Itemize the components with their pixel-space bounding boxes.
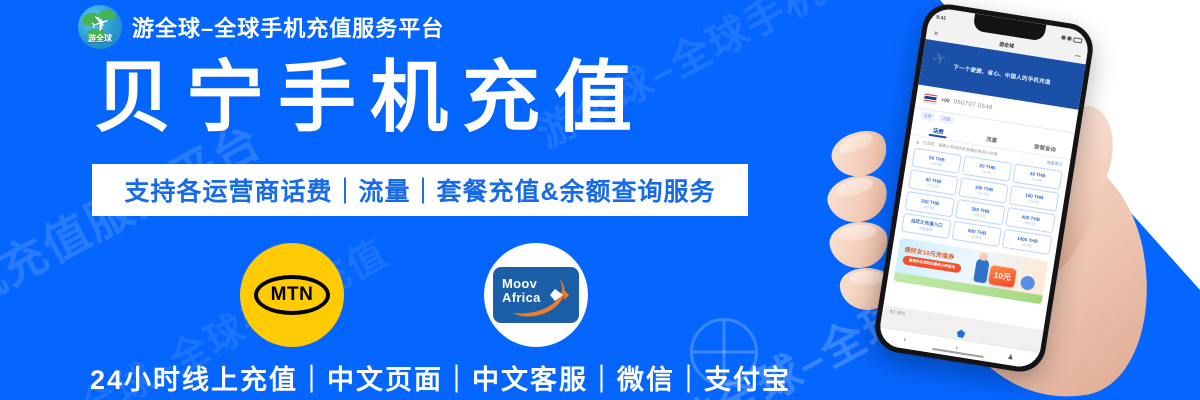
promo-person-illustration	[973, 258, 990, 284]
phone-mockup: 9:41 ✕ 游全球 ⋯ ✈ 下一个便捷、省心、中国人的手机充值	[806, 0, 1200, 400]
promo-banner: 机充值服务平台 游全球–全球手机 游全球–全球手机充值服务平台 机充值服务平台 …	[0, 0, 1200, 400]
denomination-sub: 任意金额	[919, 225, 933, 232]
profile-icon[interactable]: ♟	[1007, 352, 1014, 361]
promo-grass	[893, 272, 1043, 304]
mtn-oval-shape: MTN	[254, 275, 330, 315]
denomination-sub: ≈42.0元	[923, 203, 935, 210]
operator-logos: MTN Moov Africa	[240, 243, 588, 347]
denomination-sub: ≈10.5元	[930, 160, 942, 167]
denomination-sub: ≈12.6元	[927, 182, 939, 189]
status-icons	[1061, 35, 1083, 43]
denomination-sub: ≈4.3元	[981, 168, 992, 174]
app-note-link[interactable]: 查看更多	[1046, 160, 1063, 168]
denomination-sub: ≈6.4元	[1032, 176, 1043, 182]
denomination-sub: ≈210元	[1021, 241, 1033, 248]
brand-row: ✈ 游全球 游全球–全球手机充值服务平台	[78, 5, 444, 49]
operator-logo-mtn: MTN	[240, 243, 344, 347]
country-code: +00	[941, 97, 950, 104]
chip[interactable]: 流量	[939, 114, 954, 124]
more-icon[interactable]: ⋯	[1074, 53, 1081, 61]
status-time: 9:41	[936, 14, 947, 21]
close-icon[interactable]: ✕	[933, 30, 939, 38]
denomination-sub: ≈21.0元	[977, 190, 989, 197]
subtitle-text: 支持各运营商话费｜流量｜套餐充值&余额查询服务	[124, 172, 715, 208]
moov-label: Moov Africa	[502, 277, 541, 304]
app-nav-title: 游全球	[999, 41, 1015, 50]
brand-name: 游全球–全球手机充值服务平台	[132, 11, 444, 43]
denomination-sub: ≈84.0元	[1024, 219, 1036, 226]
battery-icon	[1073, 37, 1083, 43]
app-footer-text: 客户服务	[889, 309, 906, 317]
denomination-card[interactable]: 自定义充值入口 任意金额	[901, 213, 951, 239]
wifi-icon	[1067, 36, 1072, 41]
finger	[827, 218, 891, 272]
operator-logo-moov: Moov Africa	[484, 243, 588, 347]
page-title: 贝宁手机充值	[94, 58, 646, 136]
thailand-flag-icon	[923, 92, 938, 104]
brand-logo-caption: 游全球	[78, 33, 122, 44]
globe-plane-icon: ✈ 游全球	[78, 5, 122, 49]
feature-list: 24小时线上充值｜中文页面｜中文客服｜微信｜支付宝	[90, 358, 791, 397]
denomination-card[interactable]: 500 THB ≈105元	[952, 221, 1002, 247]
promo-coin: 10元	[988, 265, 1017, 288]
moov-card-shape: Moov Africa	[493, 267, 579, 323]
app-hero-text: 下一个便捷、省心、中国人的手机充值	[953, 63, 1052, 86]
subtitle-bar: 支持各运营商话费｜流量｜套餐充值&余额查询服务	[92, 164, 748, 216]
denomination-sub: ≈105元	[971, 233, 983, 240]
finger	[823, 169, 893, 230]
airplane-icon: ✈	[931, 48, 948, 70]
denomination-sub: ≈31.5元	[1027, 198, 1039, 205]
moov-label-line2: Africa	[502, 290, 541, 305]
chip[interactable]: 话费	[920, 111, 935, 121]
info-icon	[916, 140, 919, 143]
promo-decoration	[1020, 275, 1036, 291]
signal-icon	[1061, 35, 1066, 40]
back-icon[interactable]: ‹	[903, 336, 906, 343]
denomination-card[interactable]: 1000 THB ≈210元	[1002, 229, 1052, 255]
denomination-sub: ≈63.0元	[974, 211, 986, 218]
phone-number-value: 050707 0548	[953, 99, 993, 111]
mtn-label: MTN	[271, 284, 314, 306]
